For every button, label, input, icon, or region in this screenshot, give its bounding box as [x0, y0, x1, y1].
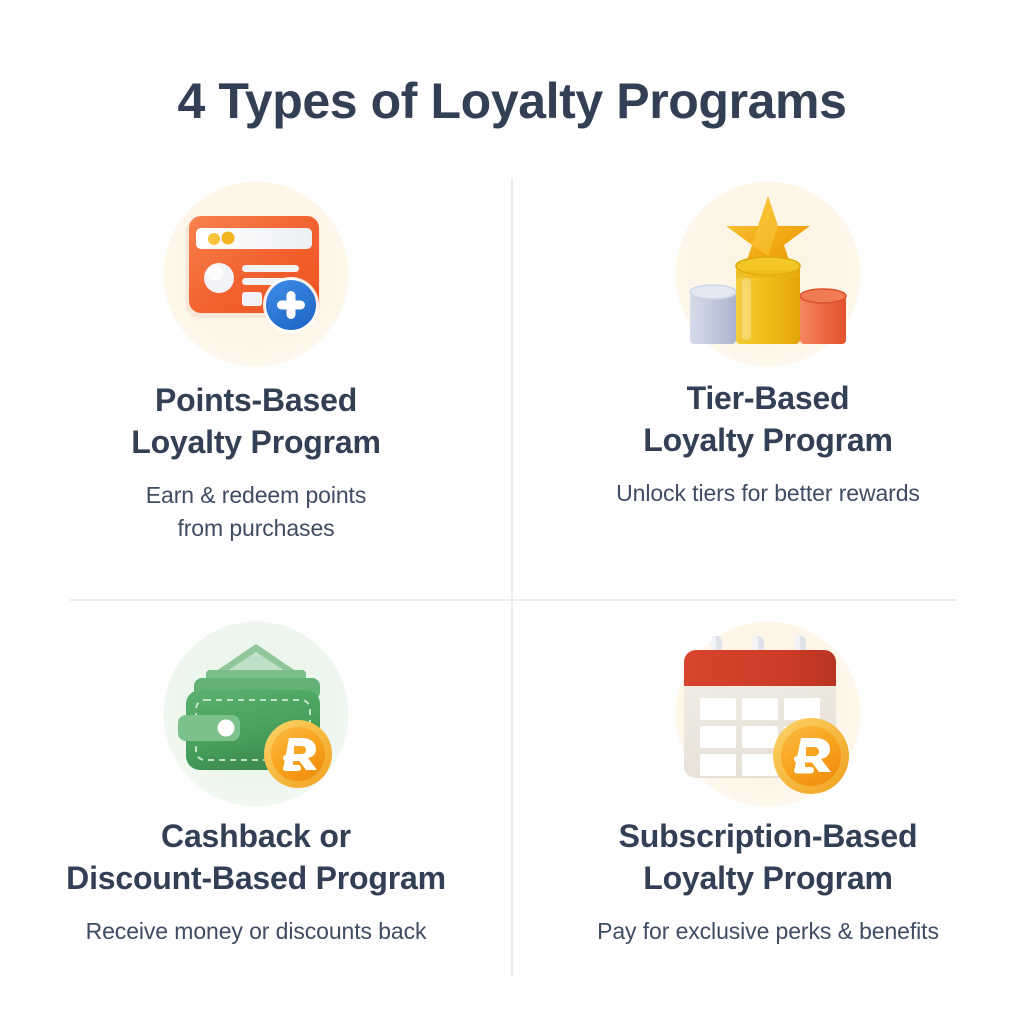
calendar-coin-icon	[668, 614, 868, 814]
icon-wrap-tier-based	[668, 174, 868, 374]
infographic-page: 4 Types of Loyalty Programs	[0, 0, 1024, 1024]
page-title: 4 Types of Loyalty Programs	[0, 72, 1024, 130]
card-cashback-discount[interactable]: Cashback or Discount-Based Program Recei…	[0, 600, 512, 1024]
card-title-line2: Loyalty Program	[643, 420, 893, 462]
card-subtitle: Receive money or discounts back	[86, 915, 427, 948]
loyalty-program-grid: Points-Based Loyalty Program Earn & rede…	[0, 160, 1024, 1024]
icon-wrap-cashback	[156, 614, 356, 814]
card-subtitle: Earn & redeem points from purchases	[146, 479, 366, 544]
card-points-based[interactable]: Points-Based Loyalty Program Earn & rede…	[0, 160, 512, 600]
wallet-coin-icon	[156, 614, 356, 814]
card-title: Subscription-Based Loyalty Program	[619, 816, 918, 899]
card-title-line1: Tier-Based	[643, 378, 893, 420]
icon-wrap-subscription	[668, 614, 868, 814]
card-subtitle: Pay for exclusive perks & benefits	[597, 915, 939, 948]
card-subtitle-line1: Earn & redeem points	[146, 479, 366, 512]
card-subtitle: Unlock tiers for better rewards	[616, 477, 920, 510]
card-subtitle-line2: from purchases	[146, 512, 366, 545]
card-subtitle-line1: Unlock tiers for better rewards	[616, 477, 920, 510]
card-title-line1: Points-Based	[131, 380, 381, 422]
card-title: Tier-Based Loyalty Program	[643, 378, 893, 461]
card-title-line1: Cashback or	[66, 816, 446, 858]
loyalty-card-plus-icon	[156, 174, 356, 374]
card-subscription-based[interactable]: Subscription-Based Loyalty Program Pay f…	[512, 600, 1024, 1024]
card-title: Points-Based Loyalty Program	[131, 380, 381, 463]
card-tier-based[interactable]: Tier-Based Loyalty Program Unlock tiers …	[512, 160, 1024, 600]
card-subtitle-line1: Receive money or discounts back	[86, 915, 427, 948]
podium-star-icon	[668, 174, 868, 374]
card-subtitle-line1: Pay for exclusive perks & benefits	[597, 915, 939, 948]
icon-wrap-points-based	[156, 174, 356, 374]
card-title-line2: Loyalty Program	[131, 422, 381, 464]
card-title-line2: Loyalty Program	[619, 858, 918, 900]
card-title-line2: Discount-Based Program	[66, 858, 446, 900]
card-title-line1: Subscription-Based	[619, 816, 918, 858]
card-title: Cashback or Discount-Based Program	[66, 816, 446, 899]
